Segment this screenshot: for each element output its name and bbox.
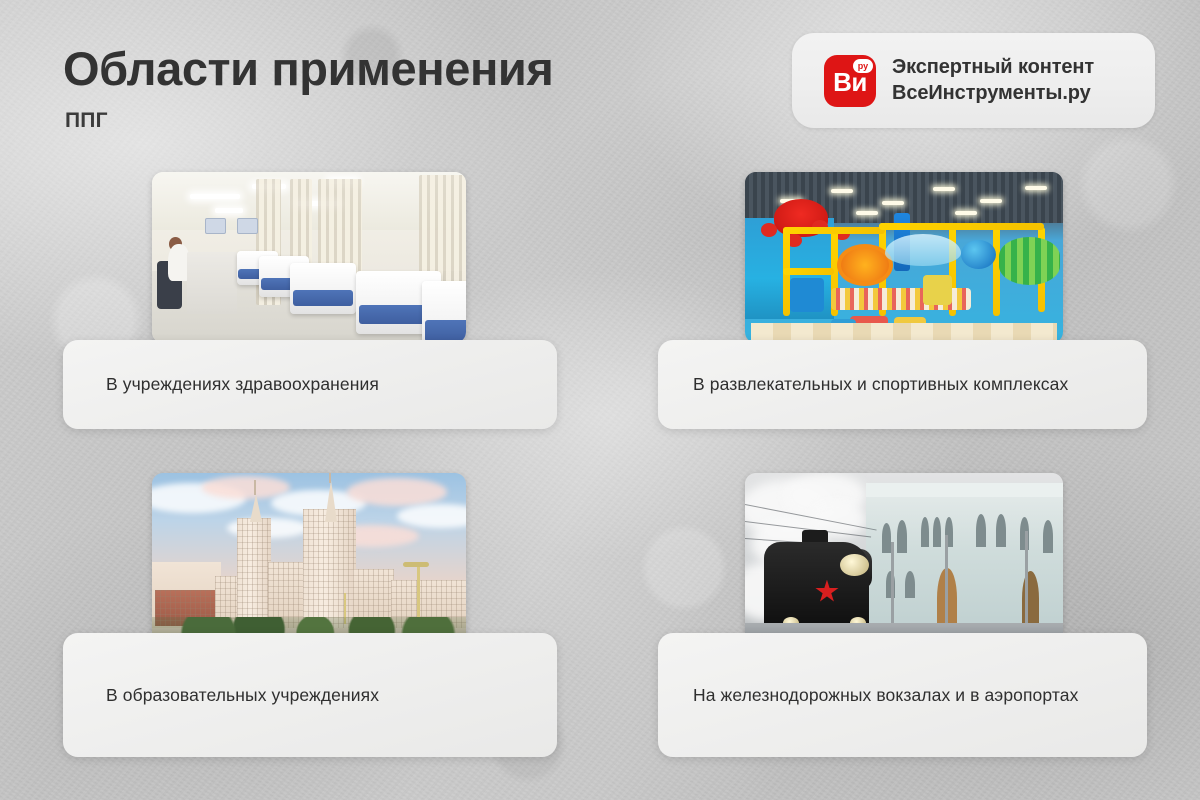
- hospital-ward-photo: [152, 172, 466, 343]
- vseinstrumenty-logo-icon: Ви ру: [824, 55, 876, 107]
- hospital-ward-photo-content: [152, 172, 466, 343]
- indoor-playground-photo: [745, 172, 1063, 343]
- brand-badge: Ви ру Экспертный контент ВсеИнструменты.…: [792, 33, 1155, 128]
- caption-text-education: В образовательных учреждениях: [106, 681, 379, 709]
- page-title: Области применения: [63, 44, 553, 94]
- caption-card-transport: На железнодорожных вокзалах и в аэропорт…: [658, 633, 1147, 757]
- railway-station-photo: [745, 473, 1063, 645]
- caption-text-transport: На железнодорожных вокзалах и в аэропорт…: [693, 681, 1078, 709]
- slide-root: Области применения ППГ Ви ру Экспертный …: [0, 0, 1200, 800]
- brand-badge-text: Экспертный контент ВсеИнструменты.ру: [892, 55, 1094, 106]
- university-building-photo: [152, 473, 466, 645]
- logo-superscript-ru: ру: [853, 59, 873, 73]
- caption-text-entertainment: В развлекательных и спортивных комплекса…: [693, 370, 1068, 398]
- caption-card-healthcare: В учреждениях здравоохранения: [63, 340, 557, 429]
- brand-badge-line1: Экспертный контент: [892, 55, 1094, 81]
- indoor-playground-photo-content: [745, 172, 1063, 343]
- caption-card-entertainment: В развлекательных и спортивных комплекса…: [658, 340, 1147, 429]
- caption-card-education: В образовательных учреждениях: [63, 633, 557, 757]
- page-subtitle: ППГ: [65, 109, 108, 133]
- caption-text-healthcare: В учреждениях здравоохранения: [106, 370, 379, 398]
- brand-badge-line2: ВсеИнструменты.ру: [892, 81, 1094, 107]
- railway-station-photo-content: [745, 473, 1063, 645]
- university-building-photo-content: [152, 473, 466, 645]
